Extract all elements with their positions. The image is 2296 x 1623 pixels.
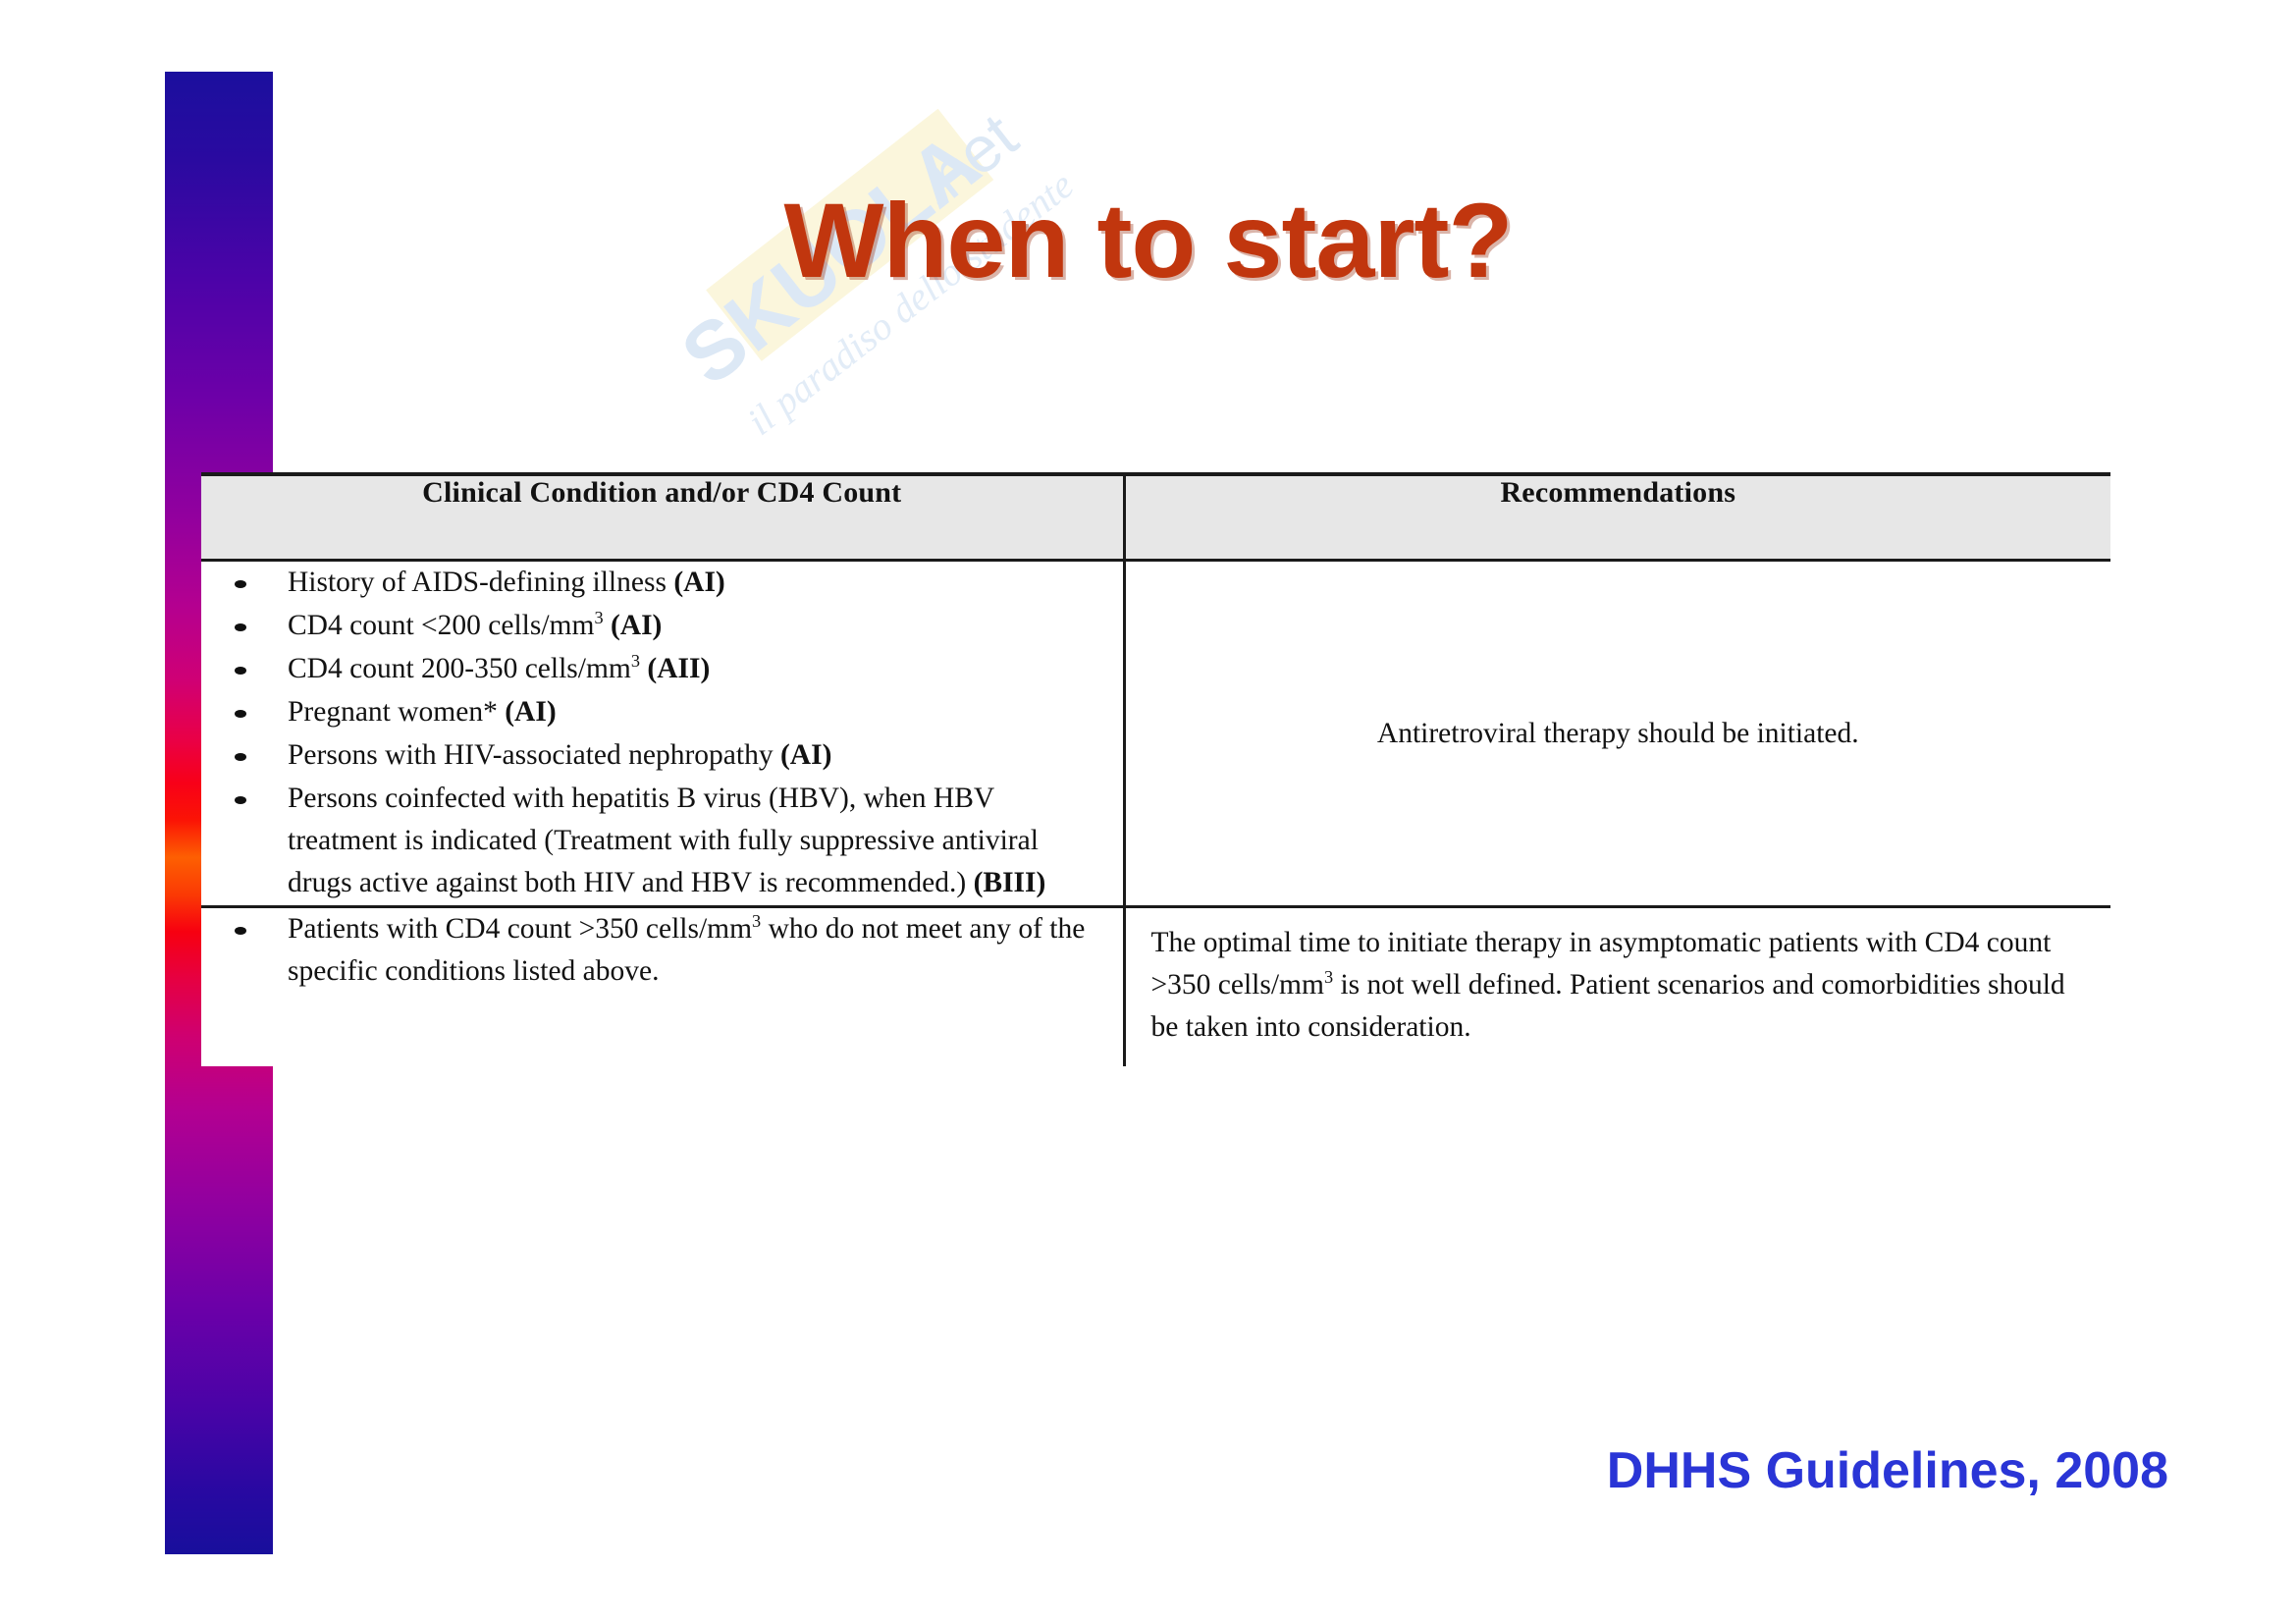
recommendation-cell-row1: Antiretroviral therapy should be initiat… [1124,561,2110,907]
condition-list-row2: Patients with CD4 count >350 cells/mm3 w… [201,908,1123,993]
page-title: When to start? [0,179,2296,301]
conditions-cell-row1: History of AIDS-defining illness (AI) CD… [201,561,1124,907]
condition-list-row1: History of AIDS-defining illness (AI) CD… [201,562,1123,904]
column-header-clinical-condition: Clinical Condition and/or CD4 Count [201,474,1124,561]
recommendation-cell-row2: The optimal time to initiate therapy in … [1124,907,2110,1067]
list-item: Pregnant women* (AI) [223,691,1097,733]
source-credit: DHHS Guidelines, 2008 [1607,1441,2168,1500]
when-to-start-guidelines-table: Clinical Condition and/or CD4 Count Reco… [201,472,2110,1066]
conditions-cell-row2: Patients with CD4 count >350 cells/mm3 w… [201,907,1124,1067]
list-item: CD4 count 200-350 cells/mm3 (AII) [223,648,1097,690]
list-item: Persons coinfected with hepatitis B viru… [223,778,1097,904]
list-item: History of AIDS-defining illness (AI) [223,562,1097,604]
list-item: CD4 count <200 cells/mm3 (AI) [223,605,1097,647]
list-item: Patients with CD4 count >350 cells/mm3 w… [223,908,1097,993]
table-row: Patients with CD4 count >350 cells/mm3 w… [201,907,2110,1067]
table-header-row: Clinical Condition and/or CD4 Count Reco… [201,474,2110,561]
column-header-recommendations: Recommendations [1124,474,2110,561]
table-row: History of AIDS-defining illness (AI) CD… [201,561,2110,907]
list-item: Persons with HIV-associated nephropathy … [223,734,1097,777]
